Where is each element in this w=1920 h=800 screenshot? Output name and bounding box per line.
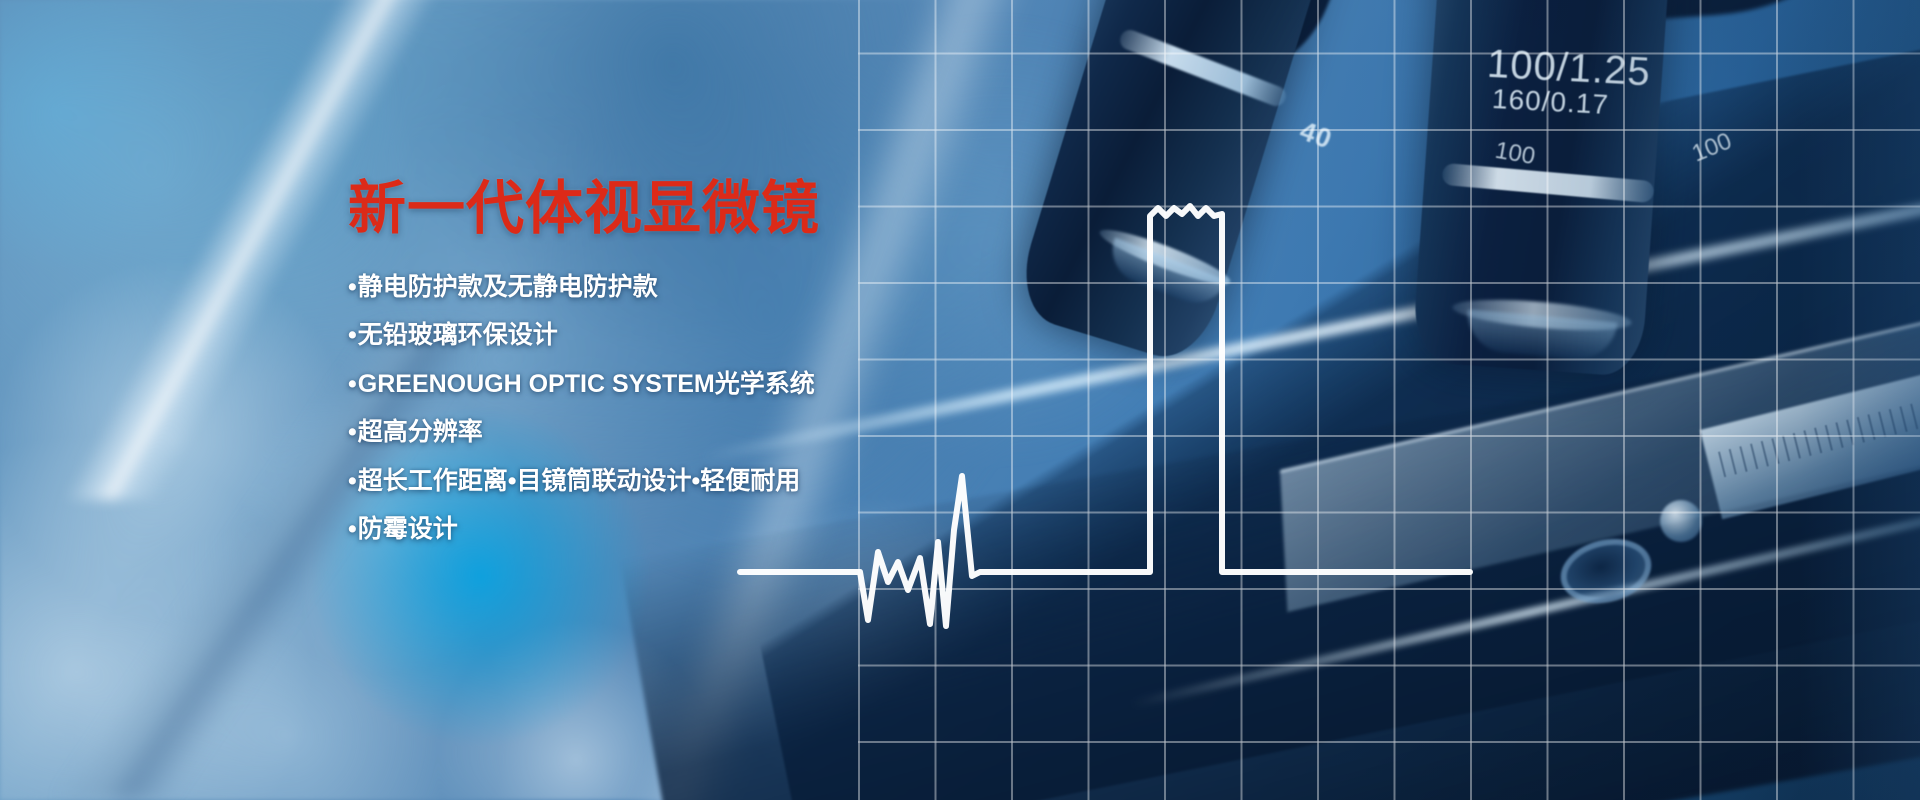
feature-item: •防霉设计 bbox=[348, 517, 908, 542]
objective-right-tube-label: 160/0.17 bbox=[1491, 83, 1610, 121]
bullet-icon: • bbox=[348, 321, 357, 349]
page-title: 新一代体视显微镜 bbox=[348, 178, 908, 241]
feature-item: •超长工作距离•目镜筒联动设计•轻便耐用 bbox=[348, 469, 908, 494]
product-banner: 40 100/1.25 160/0.17 100 100 新一代体视显微镜 •静… bbox=[0, 0, 1920, 800]
bullet-icon: • bbox=[348, 467, 357, 495]
feature-item-label: 无铅玻璃环保设计 bbox=[358, 321, 558, 349]
feature-item-label: 防霉设计 bbox=[358, 515, 458, 543]
feature-item: •静电防护款及无静电防护款 bbox=[348, 275, 908, 300]
feature-item-label: 静电防护款及无静电防护款 bbox=[358, 273, 658, 301]
bullet-icon: • bbox=[348, 418, 357, 446]
bullet-icon: • bbox=[348, 515, 357, 543]
feature-item: •无铅玻璃环保设计 bbox=[348, 323, 908, 348]
feature-item-label: 超高分辨率 bbox=[358, 418, 483, 446]
banner-text-block: 新一代体视显微镜 •静电防护款及无静电防护款•无铅玻璃环保设计•GREENOUG… bbox=[348, 178, 908, 566]
feature-list: •静电防护款及无静电防护款•无铅玻璃环保设计•GREENOUGH OPTIC S… bbox=[348, 275, 908, 543]
feature-item-label: GREENOUGH OPTIC SYSTEM光学系统 bbox=[358, 370, 815, 398]
feature-item: •GREENOUGH OPTIC SYSTEM光学系统 bbox=[348, 372, 908, 397]
feature-item-label: 超长工作距离•目镜筒联动设计•轻便耐用 bbox=[358, 467, 801, 495]
bullet-icon: • bbox=[348, 273, 357, 301]
stage-screw bbox=[1660, 500, 1702, 542]
bullet-icon: • bbox=[348, 370, 357, 398]
feature-item: •超高分辨率 bbox=[348, 420, 908, 445]
